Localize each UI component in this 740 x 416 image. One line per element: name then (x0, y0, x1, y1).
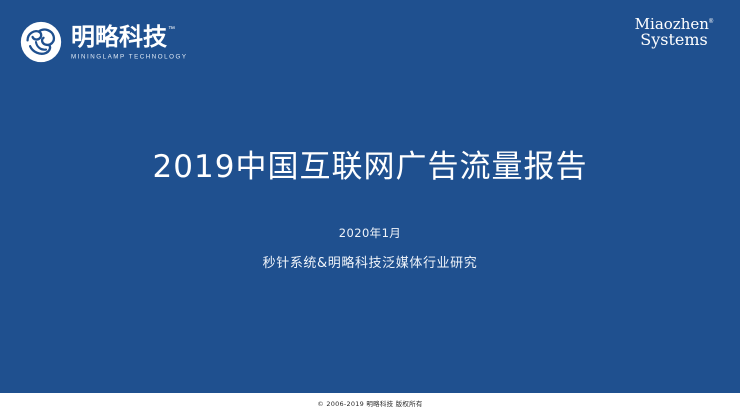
page-title: 2019中国互联网广告流量报告 (0, 148, 740, 187)
title-block: 2019中国互联网广告流量报告 (0, 148, 740, 187)
brand-name-row: 明略科技 ™ (71, 25, 188, 49)
copyright-text: © 2006-2019 明略科技 版权所有 (317, 401, 422, 408)
registered-icon: ® (709, 19, 713, 25)
miaozhen-line2: Systems (626, 32, 722, 48)
subtitle-organization: 秒针系统&明略科技泛媒体行业研究 (0, 256, 740, 272)
subtitle-block: 2020年1月 秒针系统&明略科技泛媒体行业研究 (0, 227, 740, 271)
brand-name-cn: 明略科技 (71, 25, 167, 49)
brand-wordmark: 明略科技 ™ MININGLAMP TECHNOLOGY (71, 21, 188, 63)
mininglamp-circle-logo-icon (20, 21, 62, 63)
brand-name-en: MININGLAMP TECHNOLOGY (71, 53, 188, 60)
trademark-icon: ™ (168, 26, 175, 33)
brand-logo-mininglamp: 明略科技 ™ MININGLAMP TECHNOLOGY (20, 20, 188, 64)
footer-bar: © 2006-2019 明略科技 版权所有 (0, 393, 740, 416)
subtitle-date: 2020年1月 (0, 227, 740, 241)
slide-background: 明略科技 ™ MININGLAMP TECHNOLOGY Miaozhen® S… (0, 0, 740, 393)
brand-logo-miaozhen: Miaozhen® Systems (626, 17, 722, 49)
presentation-title-slide: 明略科技 ™ MININGLAMP TECHNOLOGY Miaozhen® S… (0, 0, 740, 416)
